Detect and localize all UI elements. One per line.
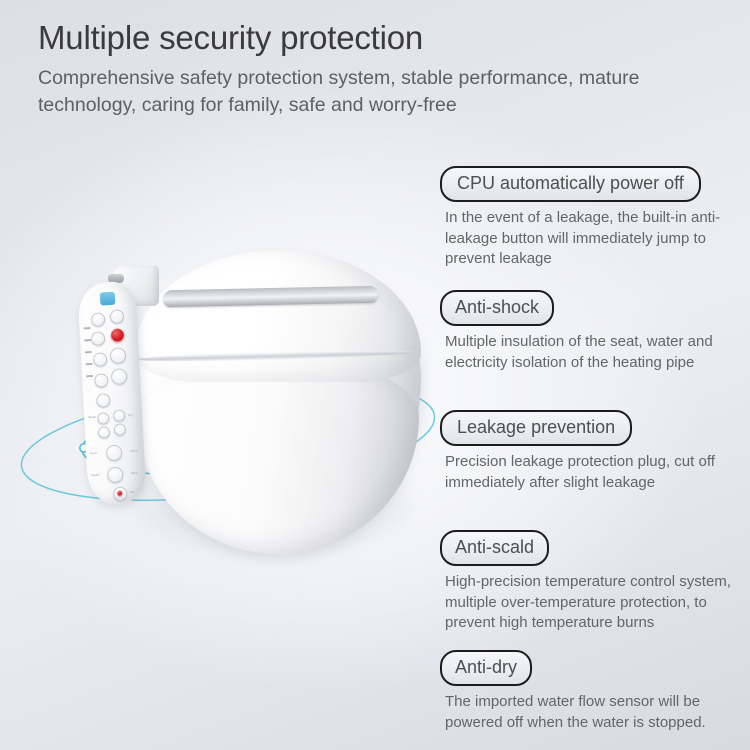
panel-label-left-3: Water <box>91 473 100 477</box>
panel-arrow-up-left[interactable] <box>97 412 110 425</box>
feature-label-cpu-power-off[interactable]: CPU automatically power off <box>440 166 701 202</box>
toilet-seat-lid <box>135 250 421 382</box>
feature-description-cpu-power-off: In the event of a leakage, the built-in … <box>445 208 735 270</box>
panel-label-power: On <box>130 490 134 494</box>
feature-item-anti-scald: Anti-scald High-precision temperature co… <box>440 530 740 634</box>
feature-description-leakage-prevention: Precision leakage protection plug, cut o… <box>445 452 735 493</box>
panel-arrow-down-right[interactable] <box>114 423 127 436</box>
feature-label-leakage-prevention[interactable]: Leakage prevention <box>440 410 632 446</box>
feature-item-anti-shock: Anti-shock Multiple insulation of the se… <box>440 290 740 373</box>
panel-label-left-1: Wash <box>88 415 96 419</box>
panel-tick-5 <box>86 375 93 377</box>
panel-label-left-2: Seat <box>90 451 97 455</box>
panel-button-6[interactable] <box>111 368 128 385</box>
panel-button-8[interactable] <box>96 393 111 408</box>
panel-label-right-1: Dry <box>128 413 133 417</box>
panel-nozzle-button[interactable] <box>106 445 123 462</box>
panel-label-right-2: Temp <box>130 449 138 453</box>
feature-item-anti-dry: Anti-dry The imported water flow sensor … <box>440 650 740 733</box>
panel-button-1[interactable] <box>91 312 106 327</box>
feature-item-cpu-power-off: CPU automatically power off In the event… <box>440 166 740 270</box>
panel-tick-2 <box>84 339 91 341</box>
feature-label-anti-dry[interactable]: Anti-dry <box>440 650 532 686</box>
panel-label-right-3: Stop <box>131 471 138 475</box>
feature-description-anti-dry: The imported water flow sensor will be p… <box>445 692 735 733</box>
page-subtitle: Comprehensive safety protection system, … <box>38 65 698 118</box>
page-title: Multiple security protection <box>38 18 728 58</box>
power-indicator-icon <box>100 292 116 306</box>
panel-button-7[interactable] <box>94 373 109 388</box>
product-infographic: Multiple security protection Comprehensi… <box>0 0 750 750</box>
panel-button-3[interactable] <box>91 331 106 346</box>
panel-button-2[interactable] <box>110 309 125 324</box>
feature-description-anti-scald: High-precision temperature control syste… <box>445 572 735 634</box>
panel-arrow-up-right[interactable] <box>113 409 126 422</box>
panel-tick-4 <box>85 363 92 365</box>
feature-label-anti-shock[interactable]: Anti-shock <box>440 290 554 326</box>
feature-label-anti-scald[interactable]: Anti-scald <box>440 530 549 566</box>
panel-tick-1 <box>84 327 91 329</box>
panel-button-5[interactable] <box>93 352 108 367</box>
product-image: Wash Dry Seat Temp Water Stop On <box>75 240 425 560</box>
panel-tick-3 <box>85 351 92 353</box>
feature-item-leakage-prevention: Leakage prevention Precision leakage pro… <box>440 410 740 493</box>
panel-button-4[interactable] <box>110 347 127 364</box>
feature-description-anti-shock: Multiple insulation of the seat, water a… <box>445 332 735 373</box>
panel-arrow-down-left[interactable] <box>98 426 111 439</box>
control-panel[interactable]: Wash Dry Seat Temp Water Stop On <box>77 281 147 506</box>
emergency-stop-button[interactable] <box>111 328 125 342</box>
header-block: Multiple security protection Comprehensi… <box>38 18 728 118</box>
panel-dryer-button[interactable] <box>107 467 124 484</box>
